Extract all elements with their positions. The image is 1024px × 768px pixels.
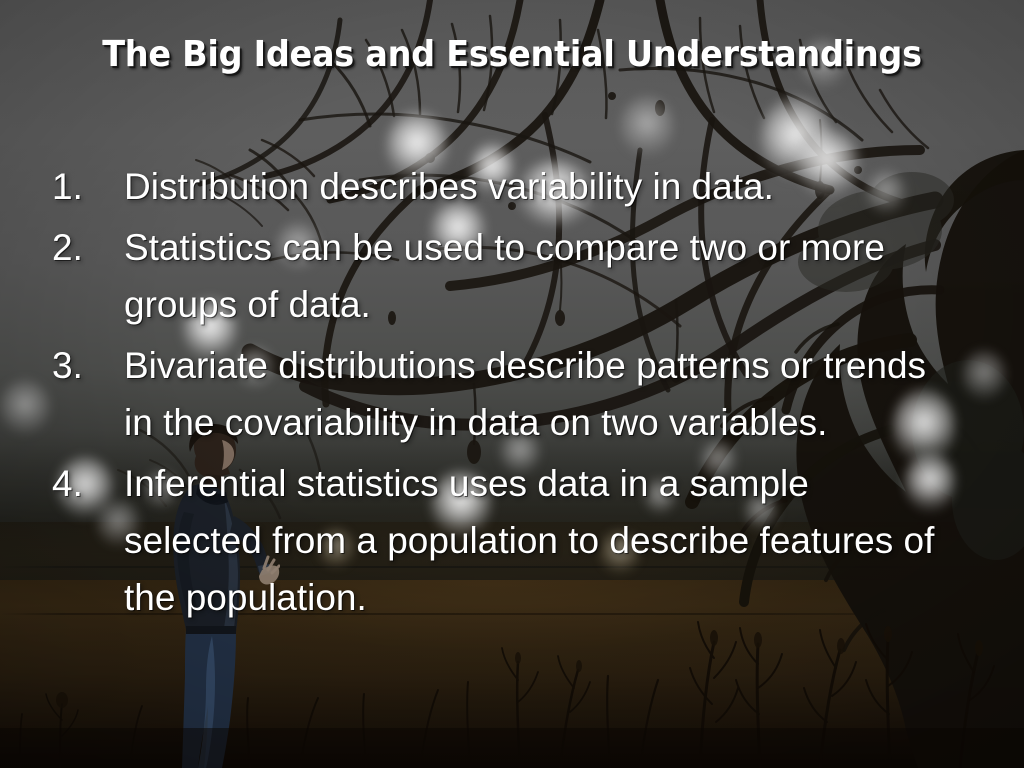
list-item: 3. Bivariate distributions describe patt…	[52, 337, 952, 451]
list-item-text: Bivariate distributions describe pattern…	[124, 337, 952, 451]
slide-content: The Big Ideas and Essential Understandin…	[0, 0, 1024, 768]
list-item: 2. Statistics can be used to compare two…	[52, 219, 952, 333]
page-title: The Big Ideas and Essential Understandin…	[36, 34, 988, 75]
list-item: 4. Inferential statistics uses data in a…	[52, 455, 952, 626]
list-item: 1. Distribution describes variability in…	[52, 158, 952, 215]
list-item-text: Inferential statistics uses data in a sa…	[124, 455, 952, 626]
slide: The Big Ideas and Essential Understandin…	[0, 0, 1024, 768]
list-item-number: 1.	[52, 158, 124, 215]
list-item-number: 3.	[52, 337, 124, 394]
bullet-list: 1. Distribution describes variability in…	[52, 158, 952, 630]
list-item-number: 4.	[52, 455, 124, 512]
list-item-number: 2.	[52, 219, 124, 276]
list-item-text: Statistics can be used to compare two or…	[124, 219, 952, 333]
list-item-text: Distribution describes variability in da…	[124, 158, 952, 215]
